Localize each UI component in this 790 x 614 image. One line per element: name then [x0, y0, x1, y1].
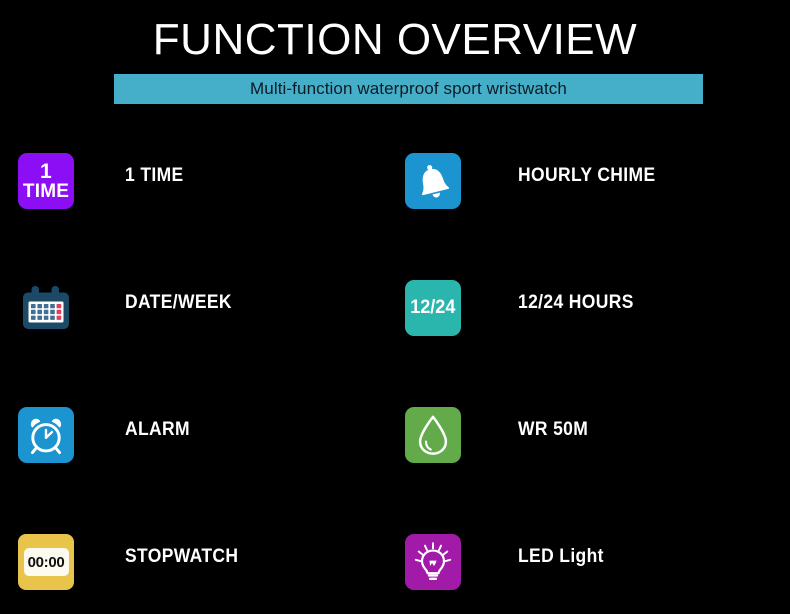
- feature-label-12-24-hours: 12/24 HOURS: [518, 292, 634, 314]
- time-tile-text-bottom: TIME: [23, 182, 69, 201]
- feature-label-1-time: 1 TIME: [125, 165, 184, 187]
- feature-item-1-time[interactable]: 1 TIME 1 TIME: [0, 133, 395, 260]
- stopwatch-icon-slot: 00:00: [18, 534, 76, 592]
- feature-label-led-light: LED Light: [518, 546, 604, 568]
- time-tile-text-top: 1: [40, 161, 52, 182]
- feature-item-alarm[interactable]: ALARM: [0, 387, 395, 514]
- calendar-icon-slot: [18, 280, 76, 338]
- function-overview-page: FUNCTION OVERVIEW Multi-function waterpr…: [0, 0, 790, 614]
- feature-label-wr-50m: WR 50M: [518, 419, 588, 441]
- feature-item-led-light[interactable]: LED Light: [395, 514, 790, 614]
- water-drop-glyph-icon: [413, 414, 453, 456]
- lightbulb-icon-slot: [405, 534, 463, 592]
- feature-label-alarm: ALARM: [125, 419, 190, 441]
- stopwatch-icon: 00:00: [18, 534, 74, 590]
- lightbulb-icon: [405, 534, 461, 590]
- subtitle-banner: Multi-function waterproof sport wristwat…: [114, 74, 703, 104]
- feature-label-hourly-chime: HOURLY CHIME: [518, 165, 655, 187]
- twelve-twentyfour-tile-text: 12/24: [410, 297, 455, 319]
- feature-label-stopwatch: STOPWATCH: [125, 546, 238, 568]
- twelve-twentyfour-tile-icon: 12/24: [405, 280, 461, 336]
- stopwatch-display-text: 00:00: [28, 554, 65, 571]
- bell-glyph-icon: [413, 161, 453, 201]
- water-drop-icon: [405, 407, 461, 463]
- time-tile-icon: 1 TIME: [18, 153, 74, 209]
- bell-icon-slot: [405, 153, 463, 211]
- feature-item-12-24-hours[interactable]: 12/24 12/24 HOURS: [395, 260, 790, 387]
- bell-icon: [405, 153, 461, 209]
- feature-label-date-week: DATE/WEEK: [125, 292, 232, 314]
- feature-item-hourly-chime[interactable]: HOURLY CHIME: [395, 133, 790, 260]
- water-drop-icon-slot: [405, 407, 463, 465]
- stopwatch-display: 00:00: [24, 548, 69, 576]
- page-title: FUNCTION OVERVIEW: [0, 14, 790, 66]
- subtitle-text: Multi-function waterproof sport wristwat…: [250, 79, 567, 99]
- feature-grid: 1 TIME 1 TIME: [0, 133, 790, 613]
- alarm-clock-icon-slot: [18, 407, 76, 465]
- feature-item-stopwatch[interactable]: 00:00 STOPWATCH: [0, 514, 395, 614]
- time-tile-icon-slot: 1 TIME: [18, 153, 76, 211]
- alarm-clock-glyph-icon: [24, 413, 68, 457]
- time-tile-text: 1 TIME: [18, 161, 74, 202]
- calendar-glyph-icon: [18, 280, 74, 336]
- alarm-clock-icon: [18, 407, 74, 463]
- twelve-twentyfour-tile-icon-slot: 12/24: [405, 280, 463, 338]
- feature-item-wr-50m[interactable]: WR 50M: [395, 387, 790, 514]
- feature-item-date-week[interactable]: DATE/WEEK: [0, 260, 395, 387]
- lightbulb-glyph-icon: [411, 540, 455, 584]
- calendar-icon: [18, 280, 74, 336]
